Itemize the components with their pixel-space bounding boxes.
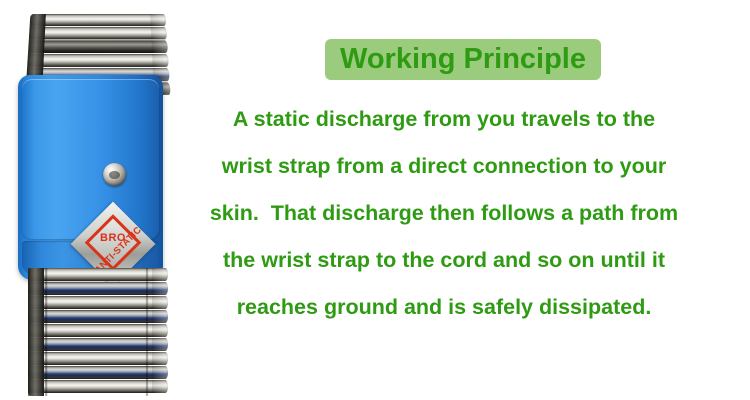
text-column: Working Principle A static discharge fro…	[180, 0, 750, 400]
body-line: wrist strap from a direct connection to …	[180, 143, 708, 190]
band-link	[28, 324, 168, 337]
band-link	[28, 310, 168, 323]
band-link	[29, 27, 167, 39]
blue-strap-body: BRO ANTI-STATIC	[18, 75, 163, 280]
band-link	[28, 338, 168, 351]
band-link	[30, 14, 167, 26]
body-line: skin. That discharge then follows a path…	[180, 190, 708, 237]
heading-badge: Working Principle	[325, 39, 601, 80]
band-left-rail	[28, 268, 44, 396]
slide-canvas: BRO ANTI-STATIC Working Principle A stat…	[0, 0, 750, 400]
band-link	[28, 380, 168, 393]
body-line: the wrist strap to the cord and so on un…	[180, 237, 708, 284]
band-link	[28, 296, 168, 309]
band-link	[28, 352, 168, 365]
body-line: A static discharge from you travels to t…	[180, 96, 708, 143]
page-title: Working Principle	[340, 45, 586, 74]
band-link	[28, 40, 168, 53]
metal-snap-stud-icon	[103, 163, 126, 186]
band-link	[28, 366, 168, 379]
band-link	[27, 54, 169, 67]
body-paragraph: A static discharge from you travels to t…	[180, 96, 708, 331]
band-link	[28, 282, 168, 295]
product-image-wrist-strap: BRO ANTI-STATIC	[0, 0, 200, 400]
metal-expansion-band-bottom	[28, 268, 168, 396]
band-link	[28, 268, 168, 281]
body-line: reaches ground and is safely dissipated.	[180, 284, 708, 331]
